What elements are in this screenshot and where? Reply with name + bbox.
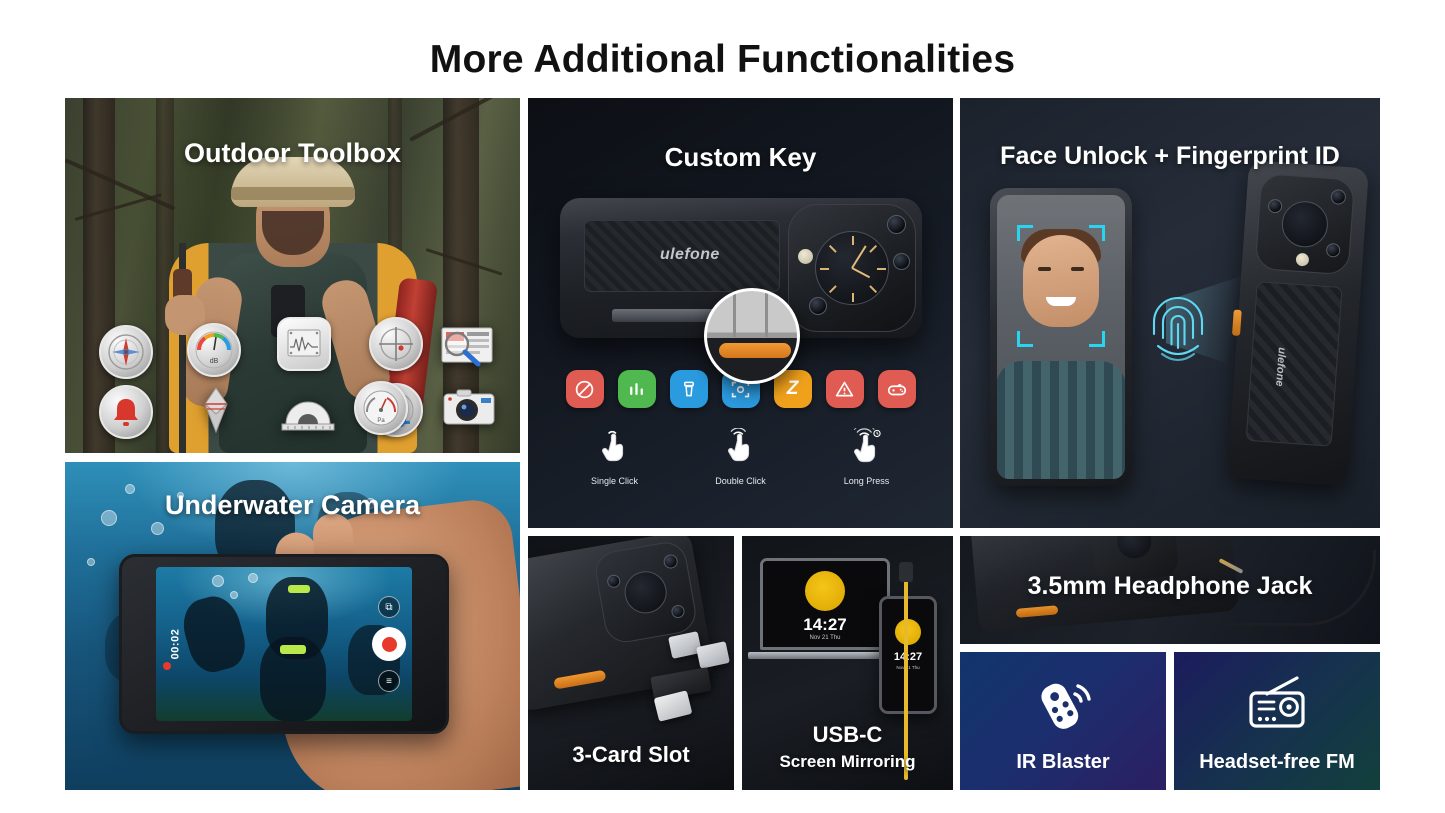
panel-title-custom-key: Custom Key [528, 142, 953, 173]
panel-headphone-jack: 3.5mm Headphone Jack [960, 536, 1380, 644]
menu-button[interactable]: ≡ [378, 670, 400, 692]
phone-clock-date: Nov 21 Thu [882, 665, 934, 670]
face-detect-bracket-br [1089, 331, 1105, 347]
game-mode-icon[interactable] [878, 370, 916, 408]
panel-ir-blaster: IR Blaster [960, 652, 1166, 790]
panel-title-underwater-camera: Underwater Camera [65, 490, 520, 521]
single-click-gesture[interactable]: Single Click [570, 428, 660, 486]
svg-text:Pa: Pa [377, 418, 385, 424]
panel-title-outdoor-toolbox: Outdoor Toolbox [65, 138, 520, 169]
face-unlock-screen [997, 195, 1125, 479]
panel-custom-key: Custom Key ulefone [528, 98, 953, 528]
panel-subtitle-screen-mirroring: Screen Mirroring [742, 752, 953, 772]
camera-module [788, 204, 916, 332]
orange-custom-key-side[interactable] [553, 670, 606, 690]
camera-switch-button[interactable]: ⧉ [378, 596, 400, 618]
camera-controls: ⧉ ≡ [372, 596, 406, 692]
gesture-list: Single Click Double Click [528, 428, 953, 486]
phone-clock-time: 14:27 [882, 651, 934, 663]
remote-control-icon [960, 674, 1166, 734]
fingerprint-icon [1146, 288, 1210, 371]
equalizer-icon[interactable] [618, 370, 656, 408]
phone-brand-label: ulefone [660, 246, 720, 264]
compass-icon[interactable] [99, 325, 153, 379]
panel-title-card-slot: 3-Card Slot [528, 742, 734, 768]
alarm-bell-icon[interactable] [99, 385, 153, 439]
laptop-display: 14:27 Nov 21 Thu [760, 558, 890, 650]
orange-custom-key-button[interactable] [719, 343, 791, 358]
panel-fm-radio: Headset-free FM [1174, 652, 1380, 790]
recording-indicator-dot [163, 662, 171, 670]
laptop-clock-date: Nov 21 Thu [763, 635, 887, 641]
bubble-level-icon[interactable] [369, 317, 423, 371]
sim-card-2 [696, 641, 730, 669]
recording-timer: 00:02 [169, 629, 181, 660]
panel-title-ir-blaster: IR Blaster [960, 751, 1166, 774]
camera-icon[interactable] [440, 383, 498, 433]
page-title: More Additional Functionalities [0, 38, 1445, 82]
sound-meter-icon[interactable]: dB [187, 323, 241, 377]
seismograph-icon[interactable] [277, 317, 331, 371]
ulefone-logo-phone [895, 619, 921, 645]
sos-warning-icon[interactable] [826, 370, 864, 408]
panel-face-unlock: Face Unlock + Fingerprint ID [960, 98, 1380, 528]
plumb-bob-icon[interactable] [189, 383, 243, 437]
double-click-gesture[interactable]: Double Click [696, 428, 786, 486]
face-detect-bracket-tl [1017, 225, 1033, 241]
svg-text:dB: dB [210, 358, 219, 365]
panel-title-fm-radio: Headset-free FM [1174, 751, 1380, 774]
toolbox-icon-grid: dB [65, 317, 520, 447]
panel-outdoor-toolbox: Outdoor Toolbox [65, 98, 520, 453]
orange-custom-key-side[interactable] [1016, 605, 1059, 618]
mirrored-phone: 14:27 Nov 21 Thu [879, 596, 937, 714]
infographic-page: More Additional Functionalities [0, 0, 1445, 813]
underwater-phone: 00:02 ⧉ ≡ [119, 554, 449, 734]
phone-front-face-unlock [990, 188, 1132, 486]
panel-title-face-unlock: Face Unlock + Fingerprint ID [960, 142, 1380, 171]
panel-title-usb-c: USB-C [742, 722, 953, 748]
radio-icon [1174, 674, 1380, 732]
face-detect-bracket-tr [1089, 225, 1105, 241]
gesture-label: Double Click [696, 476, 786, 486]
protractor-icon[interactable] [277, 385, 339, 439]
face-detect-bracket-bl [1017, 331, 1033, 347]
panel-card-slot: 3-Card Slot [528, 536, 734, 790]
ulefone-logo-laptop [805, 571, 845, 611]
do-not-disturb-icon[interactable] [566, 370, 604, 408]
panel-title-headphone-jack: 3.5mm Headphone Jack [960, 572, 1380, 601]
panel-underwater-camera: Underwater Camera 00:02 ⧉ [65, 462, 520, 790]
panel-usb-c: 14:27 Nov 21 Thu 14:27 Nov 21 Thu USB-C … [742, 536, 953, 790]
watch-dial-decoration [815, 231, 889, 305]
record-button[interactable] [372, 627, 406, 661]
gesture-label: Single Click [570, 476, 660, 486]
camera-module-back [1255, 173, 1355, 275]
usb-c-cable [904, 580, 908, 780]
phone-back-fingerprint: ulefone [1227, 160, 1369, 486]
barometer-icon[interactable]: Pa [354, 381, 408, 435]
custom-key-magnifier-callout [704, 288, 800, 384]
laptop-clock-time: 14:27 [763, 615, 887, 635]
flashlight-icon[interactable] [670, 370, 708, 408]
usb-c-plug-top [899, 562, 913, 582]
gesture-label: Long Press [822, 476, 912, 486]
magnifier-news-icon[interactable] [436, 319, 498, 371]
zello-icon[interactable]: Z [774, 370, 812, 408]
long-press-gesture[interactable]: Long Press [822, 428, 912, 486]
camera-viewfinder[interactable]: 00:02 ⧉ ≡ [156, 567, 412, 721]
